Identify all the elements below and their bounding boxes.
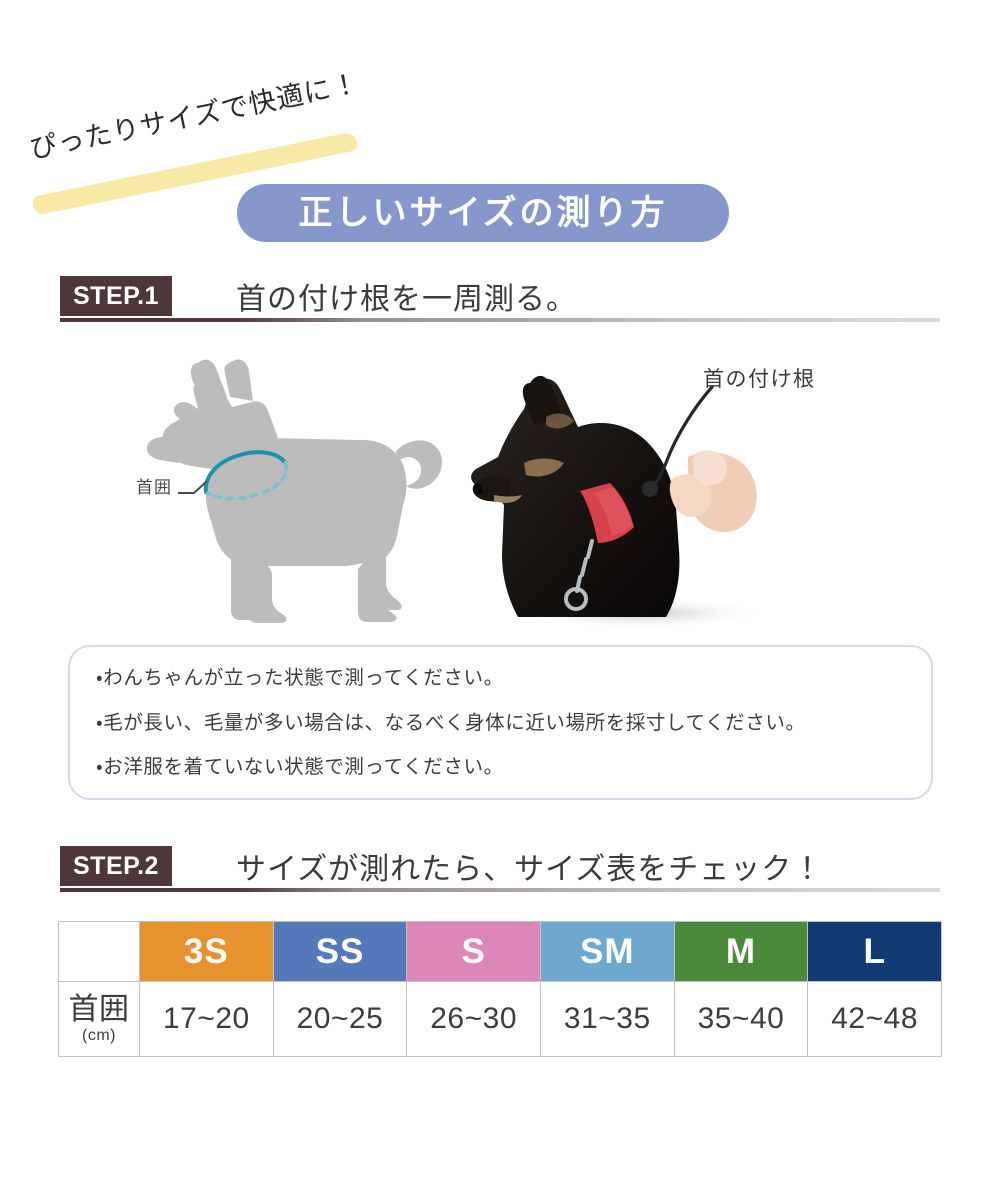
size-value-cell: 20~25 xyxy=(273,982,407,1057)
step-2-divider xyxy=(60,888,940,892)
size-header-cell: 3S xyxy=(140,922,274,982)
size-value-cell: 26~30 xyxy=(407,982,541,1057)
measurement-notes-box: ・わんちゃんが立った状態で測ってください。 ・毛が長い、毛量が多い場合は、なるべ… xyxy=(68,645,933,800)
neck-girth-label: 首囲 xyxy=(136,473,172,498)
size-value-cell: 35~40 xyxy=(674,982,808,1057)
size-value-cell: 17~20 xyxy=(140,982,274,1057)
step-1-header: STEP.1 首の付け根を一周測る。 xyxy=(60,276,940,332)
step-2-badge: STEP.2 xyxy=(60,846,172,886)
step-1-title: 首の付け根を一周測る。 xyxy=(236,276,577,316)
size-value-cell: 42~48 xyxy=(808,982,942,1057)
size-chart-value-row: 首囲 (cm) 17~20 20~25 26~30 31~35 35~40 42… xyxy=(59,982,942,1057)
table-corner-cell xyxy=(59,922,140,982)
size-chart-header-row: 3S SS S SM M L xyxy=(59,922,942,982)
page-title-banner: 正しいサイズの測り方 xyxy=(237,184,729,242)
dog-photo: 首の付け根 xyxy=(460,345,940,630)
dog-illustration: 首囲 xyxy=(120,345,480,630)
step-1-badge: STEP.1 xyxy=(60,276,172,316)
size-header-cell: SM xyxy=(540,922,674,982)
dog-photo-svg xyxy=(460,345,940,630)
note-item: ・毛が長い、毛量が多い場合は、なるべく身体に近い場所を採寸してください。 xyxy=(96,714,931,734)
note-item: ・お洋服を着ていない状態で測ってください。 xyxy=(96,758,931,778)
size-header-cell: M xyxy=(674,922,808,982)
row-label-neck-girth: 首囲 (cm) xyxy=(59,982,140,1057)
step-2-header: STEP.2 サイズが測れたら、サイズ表をチェック！ xyxy=(60,846,940,902)
neck-base-callout-label: 首の付け根 xyxy=(703,363,816,393)
size-header-cell: SS xyxy=(273,922,407,982)
row-label-text: 首囲 xyxy=(69,993,130,1026)
step-1-divider xyxy=(60,318,940,322)
size-guide-page: ぴったりサイズで快適に！ 正しいサイズの測り方 STEP.1 首の付け根を一周測… xyxy=(0,0,1000,1200)
note-item: ・わんちゃんが立った状態で測ってください。 xyxy=(96,669,931,689)
measurement-figures: 首囲 xyxy=(60,345,940,635)
size-header-cell: S xyxy=(407,922,541,982)
step-2-title: サイズが測れたら、サイズ表をチェック！ xyxy=(236,846,823,886)
dog-silhouette-svg xyxy=(120,345,480,630)
size-header-cell: L xyxy=(808,922,942,982)
size-chart-table: 3S SS S SM M L 首囲 (cm) 17~20 20~25 26~30… xyxy=(58,921,942,1057)
page-title: 正しいサイズの測り方 xyxy=(299,196,668,230)
size-value-cell: 31~35 xyxy=(540,982,674,1057)
row-label-unit: (cm) xyxy=(59,1027,139,1045)
